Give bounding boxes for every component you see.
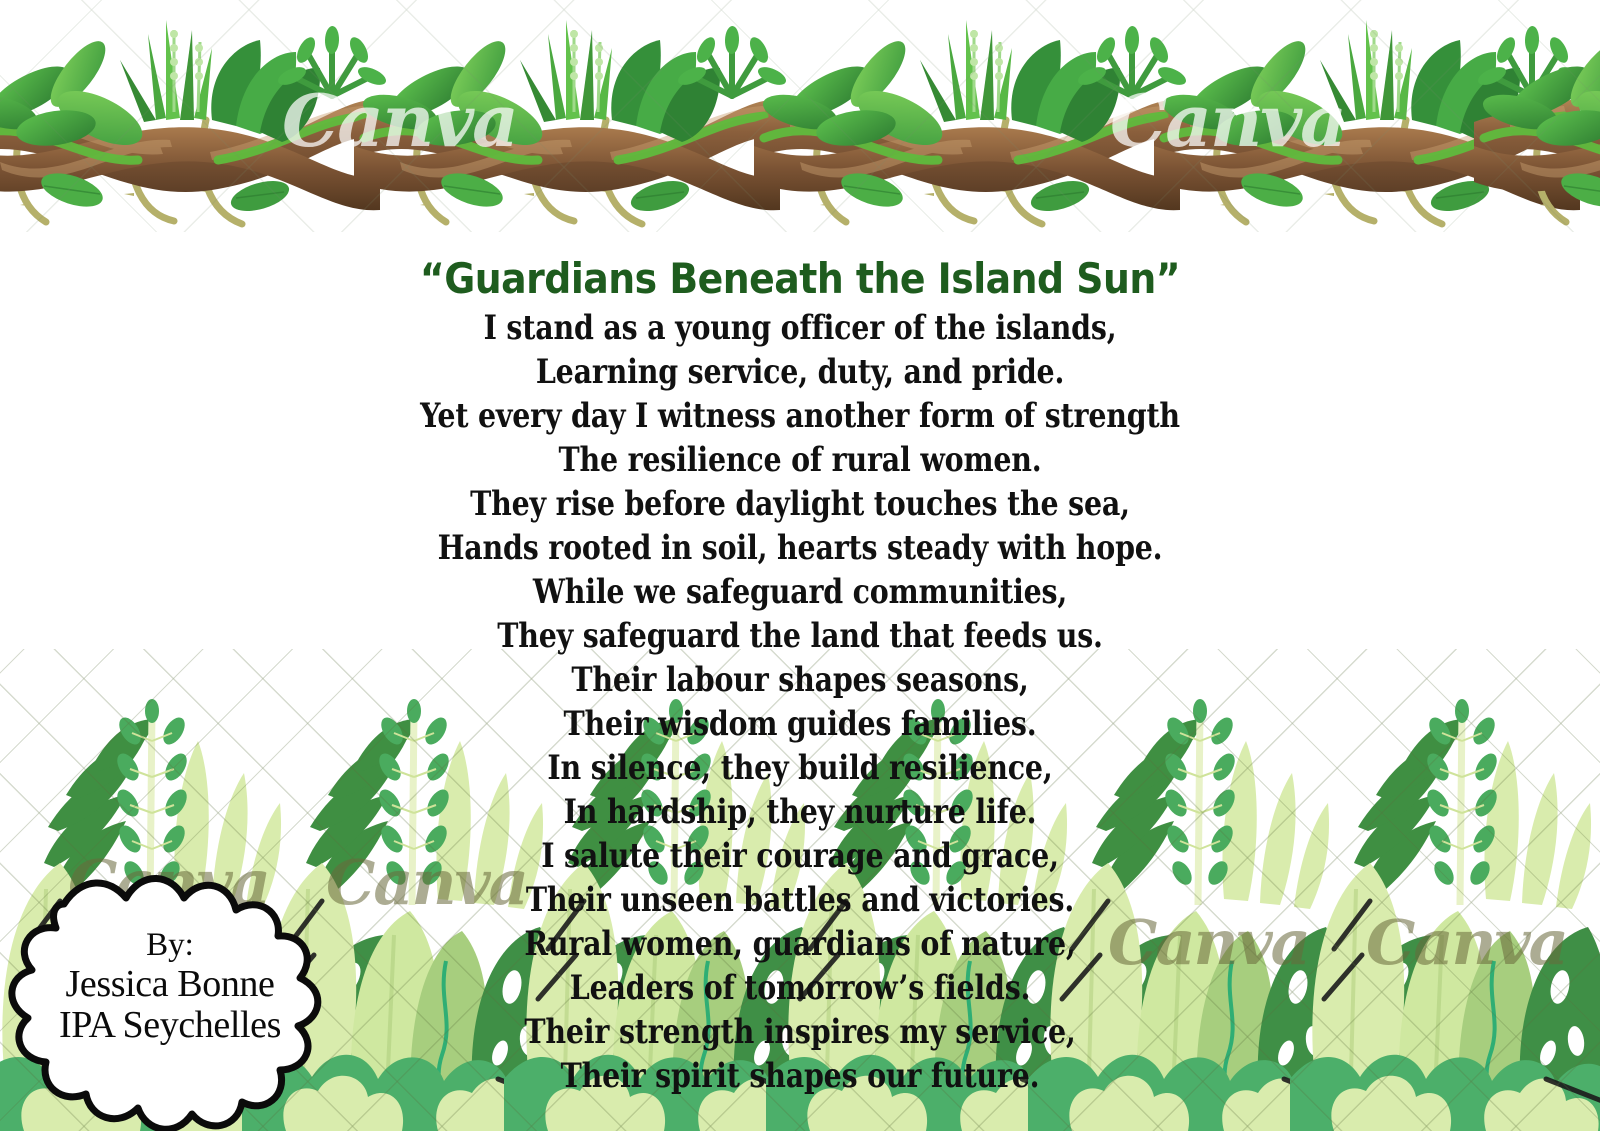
poem-line: While we safeguard communities, <box>56 570 1544 614</box>
poem-line: They rise before daylight touches the se… <box>56 482 1544 526</box>
top-vine-border-decoration <box>0 0 1600 232</box>
byline-text-block: By: Jessica Bonne IPA Seychelles <box>0 926 354 1046</box>
poem-line: I stand as a young officer of the island… <box>56 306 1544 350</box>
byline-organization: IPA Seychelles <box>0 1005 354 1046</box>
byline-prefix: By: <box>0 926 354 964</box>
poem-line: In hardship, they nurture life. <box>56 790 1544 834</box>
byline-author-name: Jessica Bonne <box>0 964 354 1005</box>
poem-line: Their labour shapes seasons, <box>56 658 1544 702</box>
watermark-canva-top-right: Canva <box>1110 78 1345 163</box>
poem-line: Hands rooted in soil, hearts steady with… <box>56 526 1544 570</box>
poem-line: In silence, they build resilience, <box>56 746 1544 790</box>
poem-line: Their wisdom guides families. <box>56 702 1544 746</box>
poem-line: Learning service, duty, and pride. <box>56 350 1544 394</box>
top-watermark-hatch <box>0 0 1600 232</box>
poem-line: The resilience of rural women. <box>56 438 1544 482</box>
poem-line: They safeguard the land that feeds us. <box>56 614 1544 658</box>
poem-title: “Guardians Beneath the Island Sun” <box>0 254 1600 303</box>
watermark-canva-top-left: Canva <box>282 78 517 163</box>
poem-poster: Canva Canva <box>0 0 1600 1131</box>
byline-callout: By: Jessica Bonne IPA Seychelles <box>0 840 354 1131</box>
poem-line: Yet every day I witness another form of … <box>56 394 1544 438</box>
